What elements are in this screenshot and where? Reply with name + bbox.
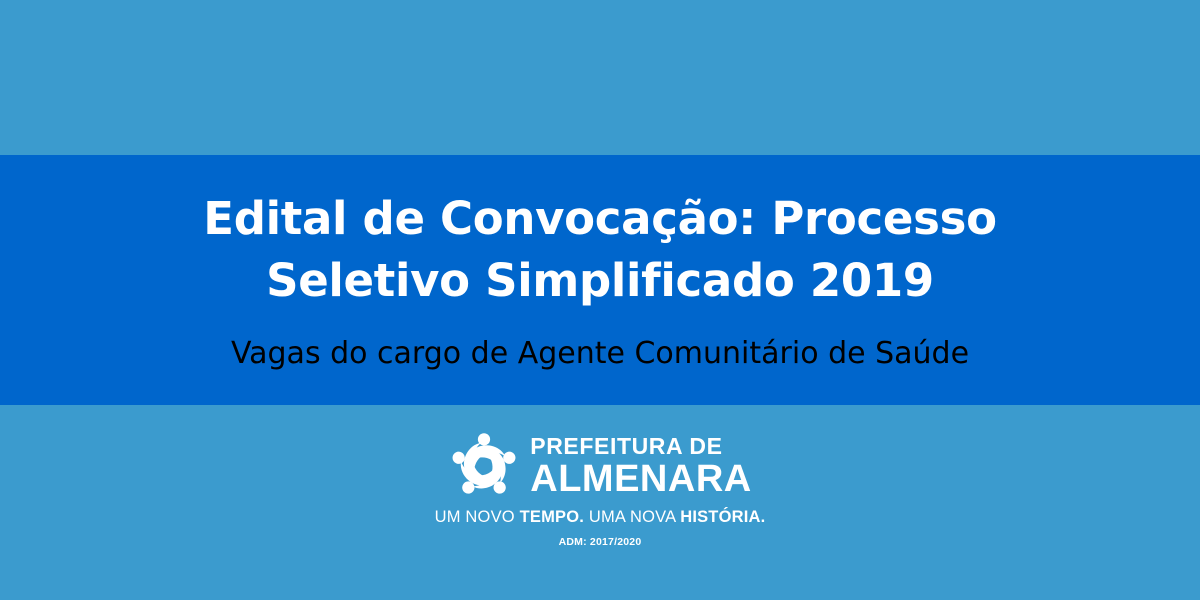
- tagline-segment-2: UMA NOVA: [584, 508, 680, 526]
- tagline-bold-historia: HISTÓRIA.: [680, 508, 765, 526]
- people-circle-icon: [448, 430, 520, 502]
- announcement-banner: Edital de Convocação: Processo Seletivo …: [0, 0, 1200, 600]
- logo-row: PREFEITURA DE ALMENARA: [448, 430, 751, 502]
- page-subtitle: Vagas do cargo de Agente Comunitário de …: [100, 312, 1100, 372]
- tagline-bold-tempo: TEMPO.: [520, 508, 584, 526]
- banner-top-band: [0, 0, 1200, 155]
- banner-headline-band: Edital de Convocação: Processo Seletivo …: [0, 155, 1200, 405]
- tagline-segment-1: UM NOVO: [435, 508, 520, 526]
- logo-wordmark: PREFEITURA DE ALMENARA: [530, 435, 751, 498]
- logo-line-prefeitura-de: PREFEITURA DE: [530, 435, 722, 458]
- logo-line-almenara: ALMENARA: [530, 460, 751, 498]
- page-title-line-2: Seletivo Simplificado 2019: [266, 254, 934, 307]
- prefeitura-logo: PREFEITURA DE ALMENARA UM NOVO TEMPO. UM…: [0, 430, 1200, 548]
- administration-period: ADM: 2017/2020: [559, 536, 642, 548]
- page-title-line-1: Edital de Convocação: Processo: [203, 192, 996, 245]
- page-title: Edital de Convocação: Processo Seletivo …: [200, 188, 1000, 312]
- logo-tagline: UM NOVO TEMPO. UMA NOVA HISTÓRIA.: [435, 508, 766, 527]
